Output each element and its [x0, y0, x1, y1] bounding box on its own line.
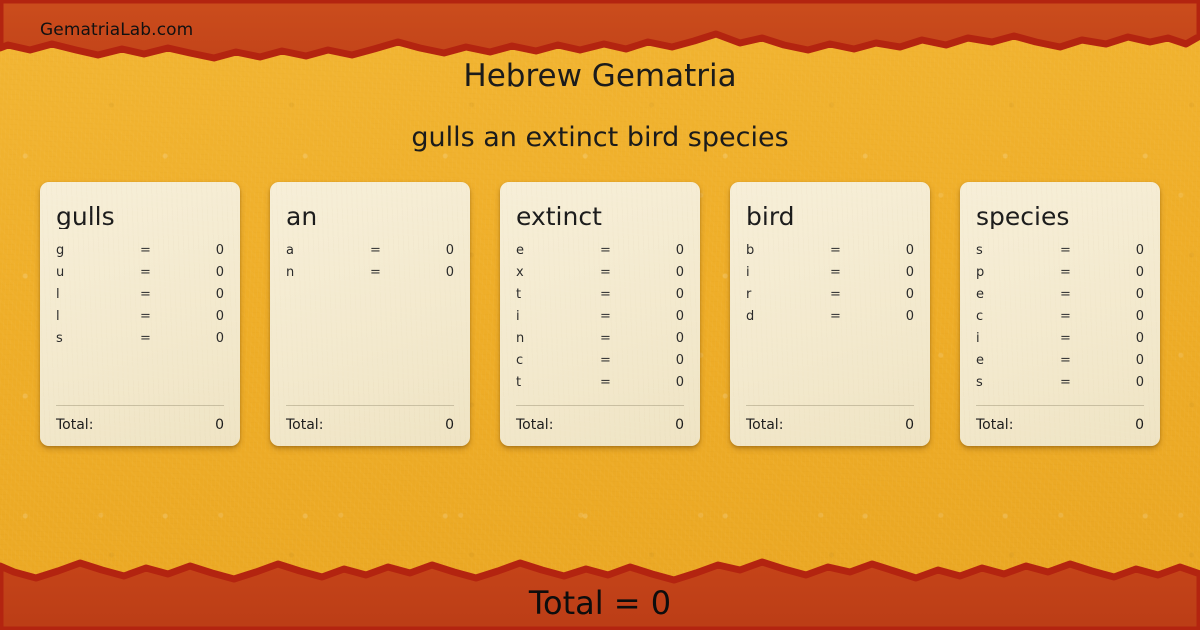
card-total-label: Total: — [56, 417, 93, 433]
letter-value: 0 — [166, 243, 224, 258]
card-total-value: 0 — [323, 417, 454, 433]
letter-value-row: x=0 — [516, 265, 684, 287]
equals-sign: = — [830, 243, 856, 258]
card-total-label: Total: — [286, 417, 323, 433]
equals-sign: = — [140, 331, 166, 346]
letter-value: 0 — [1086, 331, 1144, 346]
letter-char: e — [516, 243, 600, 258]
word-card: speciess=0p=0e=0c=0i=0e=0s=0Total:0 — [960, 182, 1160, 446]
equals-sign: = — [140, 287, 166, 302]
card-total-row: Total:0 — [976, 406, 1144, 446]
letter-value: 0 — [856, 309, 914, 324]
letter-value-row: l=0 — [56, 287, 224, 309]
letter-value: 0 — [1086, 243, 1144, 258]
word-card: gullsg=0u=0l=0l=0s=0Total:0 — [40, 182, 240, 446]
letter-char: s — [56, 331, 140, 346]
card-total-row: Total:0 — [286, 406, 454, 446]
equals-sign: = — [140, 309, 166, 324]
letter-char: i — [976, 331, 1060, 346]
word-card-title: species — [976, 204, 1144, 229]
letter-value-row: e=0 — [516, 243, 684, 265]
letter-value-row: n=0 — [516, 331, 684, 353]
card-total-label: Total: — [976, 417, 1013, 433]
site-logo[interactable]: GematriaLab.com — [40, 20, 193, 40]
letter-char: u — [56, 265, 140, 280]
equals-sign: = — [600, 375, 626, 390]
letter-char: n — [516, 331, 600, 346]
equals-sign: = — [600, 309, 626, 324]
letter-value: 0 — [856, 287, 914, 302]
letter-value-row: b=0 — [746, 243, 914, 265]
letter-char: t — [516, 375, 600, 390]
card-total-row: Total:0 — [746, 406, 914, 446]
word-card-list: gullsg=0u=0l=0l=0s=0Total:0ana=0n=0Total… — [40, 182, 1160, 446]
letter-value: 0 — [166, 331, 224, 346]
letter-value-row: i=0 — [516, 309, 684, 331]
word-card: extincte=0x=0t=0i=0n=0c=0t=0Total:0 — [500, 182, 700, 446]
letter-value: 0 — [166, 265, 224, 280]
letter-char: e — [976, 353, 1060, 368]
letter-char: l — [56, 309, 140, 324]
card-total-label: Total: — [516, 417, 553, 433]
equals-sign: = — [830, 287, 856, 302]
letter-char: d — [746, 309, 830, 324]
letter-value: 0 — [626, 353, 684, 368]
letter-value-row: t=0 — [516, 287, 684, 309]
letter-char: n — [286, 265, 370, 280]
equals-sign: = — [1060, 353, 1086, 368]
letter-char: p — [976, 265, 1060, 280]
equals-sign: = — [1060, 309, 1086, 324]
equals-sign: = — [600, 331, 626, 346]
letter-char: b — [746, 243, 830, 258]
letter-value-list: s=0p=0e=0c=0i=0e=0s=0 — [976, 243, 1144, 405]
letter-char: i — [746, 265, 830, 280]
letter-value-row: i=0 — [976, 331, 1144, 353]
equals-sign: = — [830, 265, 856, 280]
equals-sign: = — [370, 243, 396, 258]
letter-value-row: s=0 — [976, 243, 1144, 265]
grand-total: Total = 0 — [0, 584, 1200, 622]
letter-value-row: g=0 — [56, 243, 224, 265]
phrase-subtitle: gulls an extinct bird species — [0, 122, 1200, 153]
letter-char: c — [976, 309, 1060, 324]
letter-value-row: d=0 — [746, 309, 914, 331]
letter-value: 0 — [396, 265, 454, 280]
letter-value: 0 — [626, 265, 684, 280]
letter-value-row: c=0 — [976, 309, 1144, 331]
letter-value-row: e=0 — [976, 287, 1144, 309]
letter-value-row: s=0 — [56, 331, 224, 353]
equals-sign: = — [600, 243, 626, 258]
letter-char: t — [516, 287, 600, 302]
page-title: Hebrew Gematria — [0, 58, 1200, 94]
letter-value: 0 — [1086, 375, 1144, 390]
page-root: GematriaLab.com Hebrew Gematria gulls an… — [0, 0, 1200, 630]
letter-char: a — [286, 243, 370, 258]
card-total-value: 0 — [93, 417, 224, 433]
letter-value-row: u=0 — [56, 265, 224, 287]
equals-sign: = — [600, 287, 626, 302]
letter-value: 0 — [1086, 353, 1144, 368]
equals-sign: = — [140, 265, 166, 280]
equals-sign: = — [370, 265, 396, 280]
letter-char: c — [516, 353, 600, 368]
letter-value: 0 — [166, 287, 224, 302]
letter-value: 0 — [626, 287, 684, 302]
equals-sign: = — [1060, 265, 1086, 280]
letter-value-list: g=0u=0l=0l=0s=0 — [56, 243, 224, 405]
letter-char: s — [976, 375, 1060, 390]
equals-sign: = — [600, 265, 626, 280]
letter-char: g — [56, 243, 140, 258]
letter-value: 0 — [856, 243, 914, 258]
letter-value-list: e=0x=0t=0i=0n=0c=0t=0 — [516, 243, 684, 405]
letter-value: 0 — [626, 375, 684, 390]
equals-sign: = — [1060, 287, 1086, 302]
word-card-title: gulls — [56, 204, 224, 229]
card-total-value: 0 — [553, 417, 684, 433]
equals-sign: = — [830, 309, 856, 324]
letter-value-row: p=0 — [976, 265, 1144, 287]
equals-sign: = — [1060, 331, 1086, 346]
card-total-value: 0 — [1013, 417, 1144, 433]
card-total-label: Total: — [746, 417, 783, 433]
card-total-value: 0 — [783, 417, 914, 433]
letter-value-row: e=0 — [976, 353, 1144, 375]
letter-value: 0 — [166, 309, 224, 324]
equals-sign: = — [600, 353, 626, 368]
letter-value-row: a=0 — [286, 243, 454, 265]
word-card-title: extinct — [516, 204, 684, 229]
letter-value: 0 — [626, 243, 684, 258]
letter-value-list: b=0i=0r=0d=0 — [746, 243, 914, 405]
letter-value: 0 — [1086, 287, 1144, 302]
equals-sign: = — [140, 243, 166, 258]
letter-value-row: i=0 — [746, 265, 914, 287]
letter-char: s — [976, 243, 1060, 258]
letter-char: r — [746, 287, 830, 302]
letter-value-row: c=0 — [516, 353, 684, 375]
card-total-row: Total:0 — [516, 406, 684, 446]
letter-value: 0 — [1086, 265, 1144, 280]
letter-char: e — [976, 287, 1060, 302]
card-total-row: Total:0 — [56, 406, 224, 446]
letter-value-list: a=0n=0 — [286, 243, 454, 405]
letter-char: x — [516, 265, 600, 280]
letter-char: i — [516, 309, 600, 324]
equals-sign: = — [1060, 243, 1086, 258]
letter-char: l — [56, 287, 140, 302]
letter-value-row: n=0 — [286, 265, 454, 287]
word-card: birdb=0i=0r=0d=0Total:0 — [730, 182, 930, 446]
letter-value-row: r=0 — [746, 287, 914, 309]
letter-value-row: t=0 — [516, 375, 684, 397]
letter-value: 0 — [856, 265, 914, 280]
word-card-title: bird — [746, 204, 914, 229]
equals-sign: = — [1060, 375, 1086, 390]
letter-value: 0 — [396, 243, 454, 258]
word-card-title: an — [286, 204, 454, 229]
letter-value: 0 — [1086, 309, 1144, 324]
letter-value: 0 — [626, 331, 684, 346]
letter-value: 0 — [626, 309, 684, 324]
word-card: ana=0n=0Total:0 — [270, 182, 470, 446]
letter-value-row: l=0 — [56, 309, 224, 331]
letter-value-row: s=0 — [976, 375, 1144, 397]
